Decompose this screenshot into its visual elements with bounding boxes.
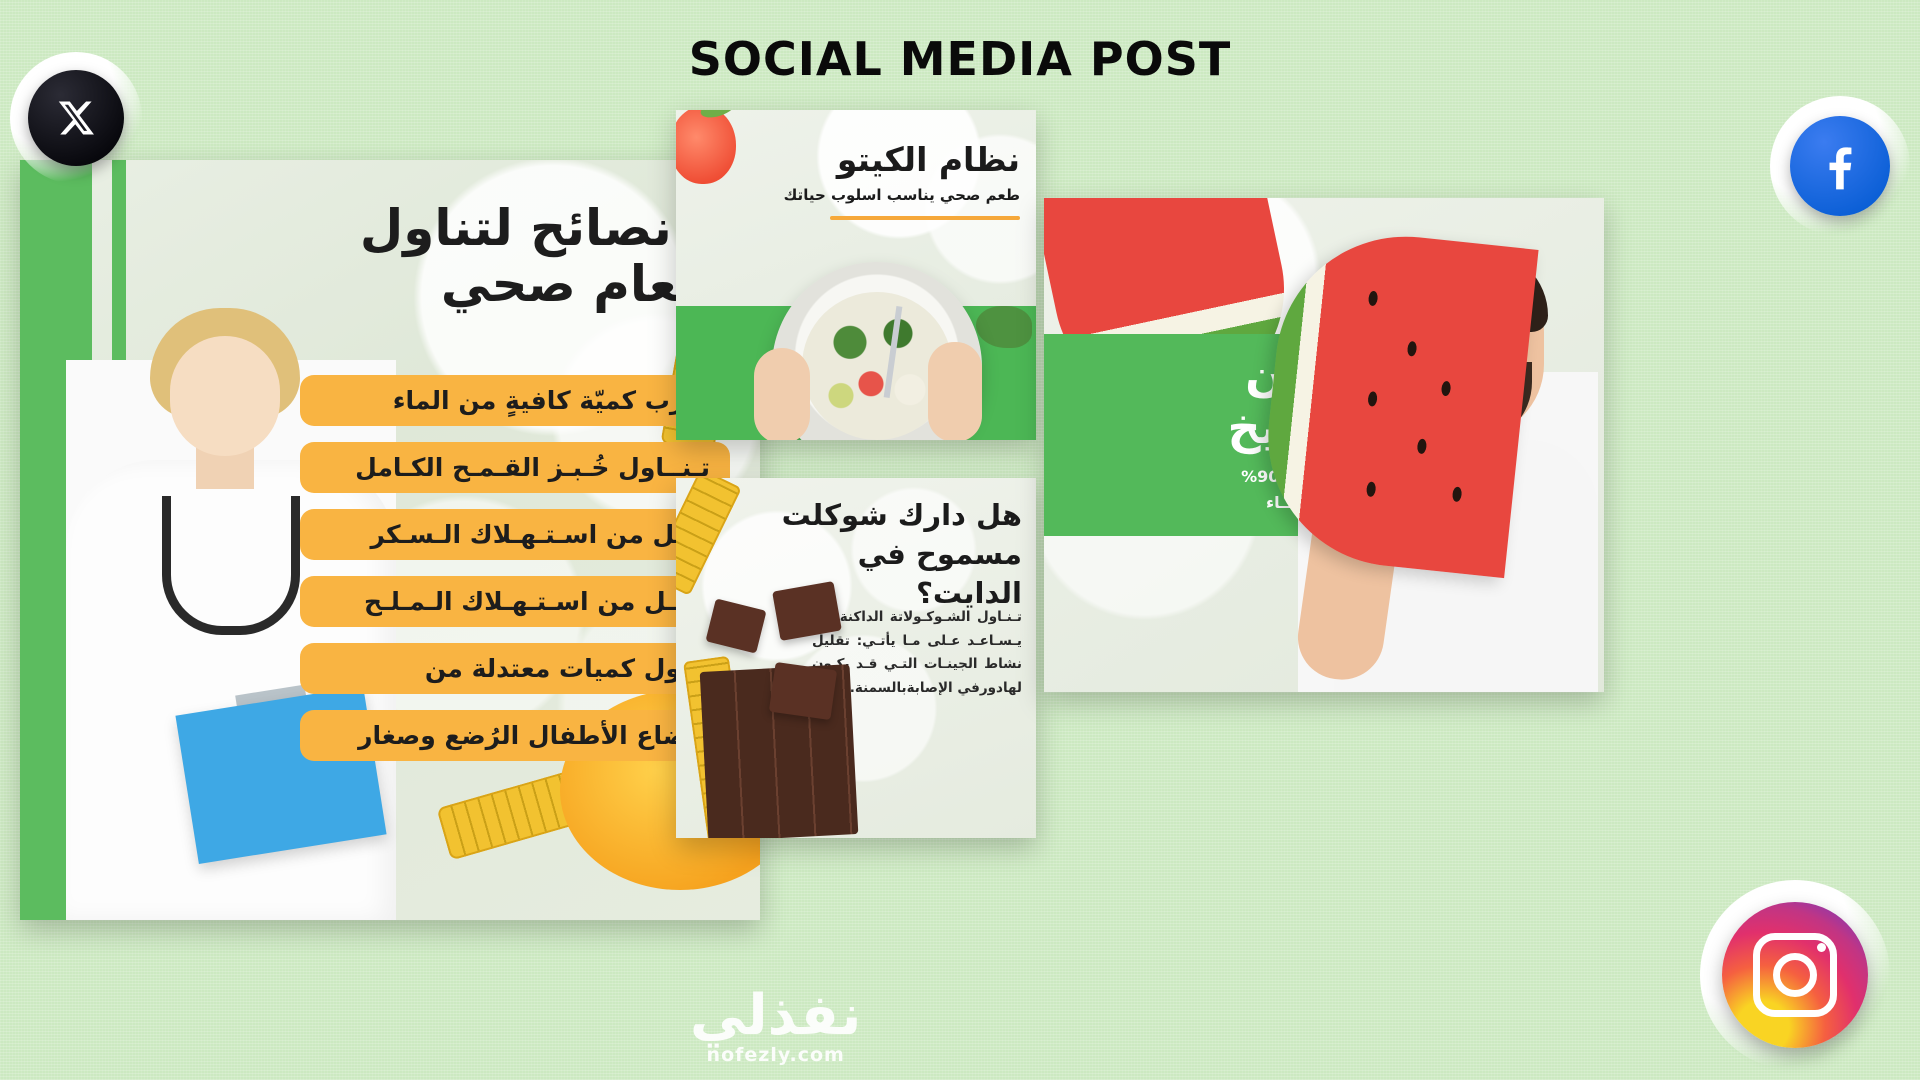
tips-list: شُرب كميّة كافيةٍ من الماء تـنــاول خُـب… xyxy=(300,375,730,777)
stethoscope-icon xyxy=(162,496,300,635)
chocolate-chunk xyxy=(772,581,842,641)
facebook-chip xyxy=(1790,116,1890,216)
watermelon-post-card[interactable]: يتكون البطيخ من اكثر من 90% مـــن الــمـ… xyxy=(1044,198,1604,692)
tips-list-item[interactable]: قـلّـل من اسـتـهـلاك الـمـلـح xyxy=(300,576,730,627)
tips-list-item[interactable]: إرضاع الأطفال الرُضع وصغار xyxy=(300,710,730,761)
instagram-logo-glyph xyxy=(1753,933,1837,1017)
keto-post-card[interactable]: نظام الكيتو طعم صحي يناسب اسلوب حياتك xyxy=(676,110,1036,440)
x-logo-glyph xyxy=(54,96,98,140)
tips-list-item[interactable]: شُرب كميّة كافيةٍ من الماء xyxy=(300,375,730,426)
doctor-face xyxy=(170,336,280,456)
watermark-arabic: نفذلي xyxy=(690,988,861,1044)
page-title: SOCIAL MEDIA POST xyxy=(0,32,1920,86)
tips-list-item[interactable]: تناول كميات معتدلة من xyxy=(300,643,730,694)
hand-right xyxy=(928,342,982,440)
tips-list-item[interactable]: قـلّل من اسـتـهـلاك الـسـكر xyxy=(300,509,730,560)
instagram-icon[interactable] xyxy=(1700,880,1890,1070)
hand-left xyxy=(754,348,810,440)
keto-title-underline xyxy=(830,216,1020,220)
keto-card-subtitle: طعم صحي يناسب اسلوب حياتك xyxy=(784,186,1020,204)
x-twitter-icon[interactable] xyxy=(10,52,142,184)
keto-card-title: نظام الكيتو xyxy=(837,140,1020,179)
chocolate-chunk xyxy=(769,662,837,720)
facebook-icon[interactable] xyxy=(1770,96,1910,236)
watermark-latin: nofezly.com xyxy=(690,1044,861,1066)
tips-post-card[interactable]: 5 نصائح لتناول طعام صحي شُرب كميّة كافية… xyxy=(20,160,760,920)
tips-heading-line-2: طعام صحي xyxy=(304,256,724,312)
facebook-logo-glyph xyxy=(1812,138,1868,194)
tips-heading-line-1: 5 نصائح لتناول xyxy=(304,200,724,256)
watermark: نفذلي nofezly.com xyxy=(690,988,861,1066)
instagram-chip xyxy=(1722,902,1868,1048)
x-twitter-chip xyxy=(28,70,124,166)
chocolate-post-card[interactable]: هل دارك شوكلت مسموح في الدايت؟ تـنـاول ا… xyxy=(676,478,1036,838)
tips-card-heading: 5 نصائح لتناول طعام صحي xyxy=(304,200,724,312)
tips-list-item[interactable]: تـنــاول خُـبـز القـمـح الكـامل xyxy=(300,442,730,493)
